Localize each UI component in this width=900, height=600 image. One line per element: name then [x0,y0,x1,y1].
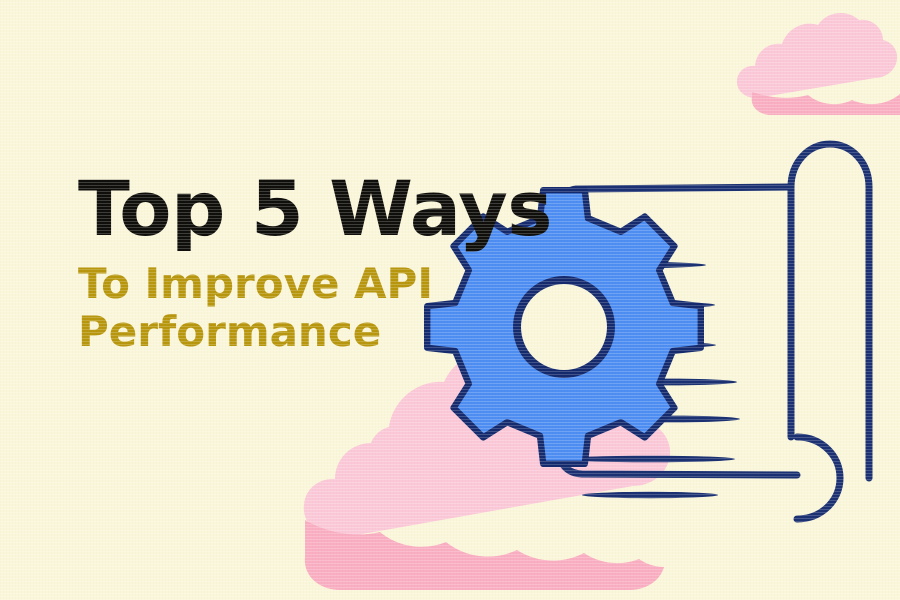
page-subtitle-line-2: Performance [78,308,508,356]
gear-center-hole [517,280,611,374]
page-subtitle: To Improve API Performance [78,260,508,356]
title-block: Top 5 Ways To Improve API Performance [78,172,508,356]
page-subtitle-line-1: To Improve API [78,259,433,308]
page-title: Top 5 Ways [78,172,508,246]
poster-canvas: Top 5 Ways To Improve API Performance [0,0,900,600]
